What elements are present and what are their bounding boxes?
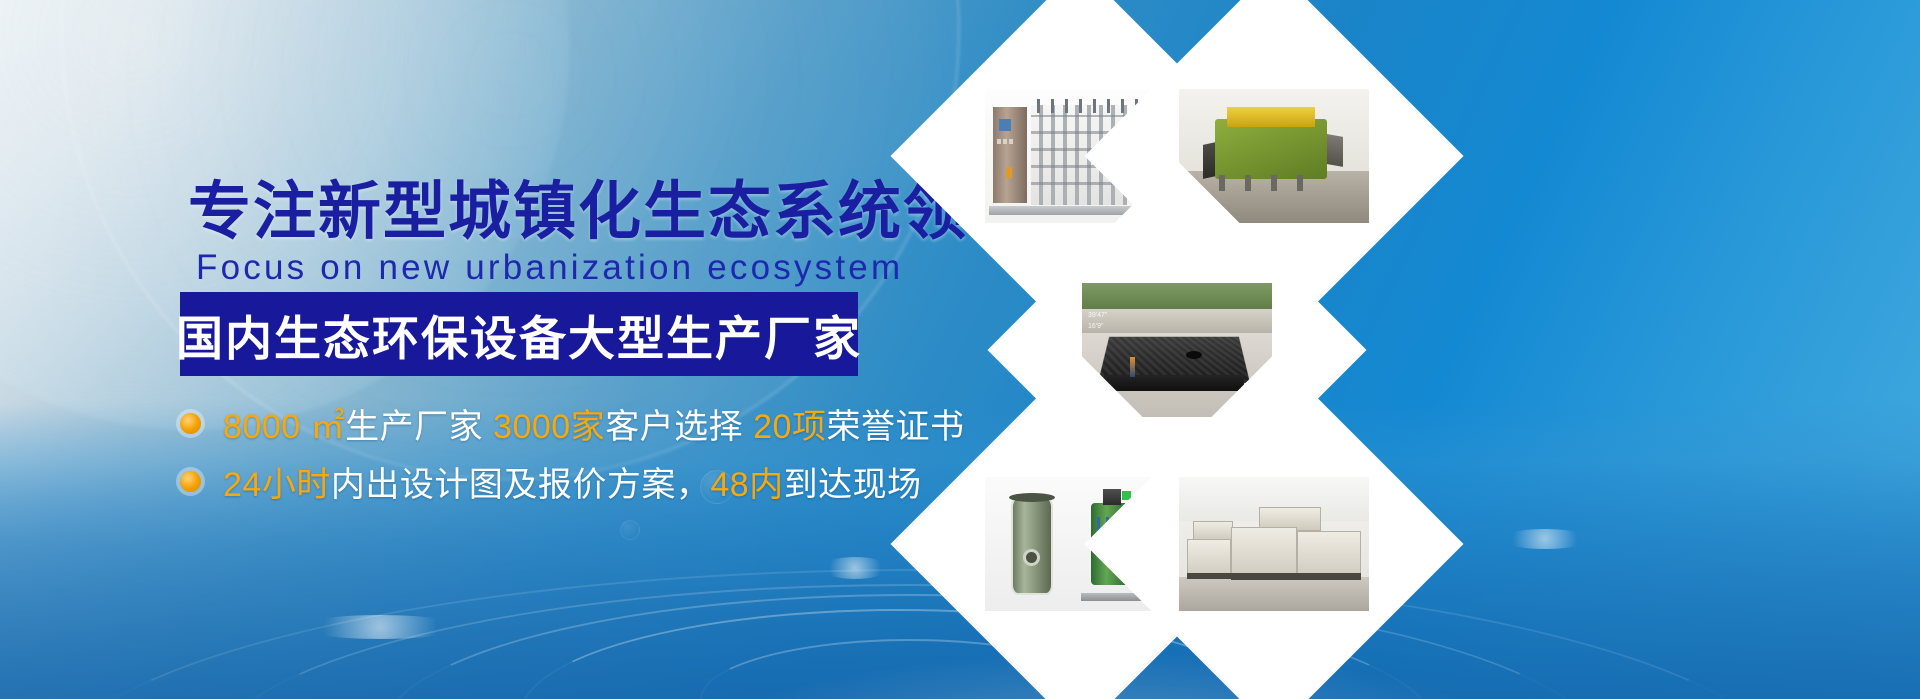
- photo-concrete-panel-stack: [1179, 477, 1369, 611]
- banner-subheadline: Focus on new urbanization ecosystem: [196, 248, 903, 288]
- list-item: 24小时内出设计图及报价方案，48内到达现场: [180, 458, 964, 504]
- bullet-text: 8000 ㎡生产厂家 3000家客户选择 20项荣誉证书: [223, 399, 964, 448]
- bullet-plain-text: 内出设计图及报价方案，: [331, 466, 711, 504]
- banner-text-column: 专注新型城镇化生态系统领域 Focus on new urbanization …: [0, 0, 960, 699]
- banner-bullet-list: 8000 ㎡生产厂家 3000家客户选择 20项荣誉证书 24小时内出设计图及报…: [180, 400, 964, 516]
- bullet-highlight-text: 48内: [710, 466, 783, 504]
- banner-highlight-box-label: 国内生态环保设备大型生产厂家: [176, 300, 862, 369]
- bullet-highlight-text: 8000 ㎡: [223, 408, 345, 446]
- bullet-plain-text: 客户选择: [605, 408, 753, 446]
- bullet-plain-text: 生产厂家: [345, 408, 493, 446]
- bullet-dot-icon: [180, 413, 201, 434]
- bullet-highlight-text: 3000家: [493, 408, 605, 446]
- list-item: 8000 ㎡生产厂家 3000家客户选择 20项荣誉证书: [180, 400, 964, 446]
- bullet-highlight-text: 20项: [753, 408, 826, 446]
- bullet-text: 24小时内出设计图及报价方案，48内到达现场: [223, 457, 922, 506]
- diamond-photo-grid: 39'47"16'9": [900, 0, 1920, 699]
- hero-banner: 专注新型城镇化生态系统领域 Focus on new urbanization …: [0, 0, 1920, 699]
- bullet-dot-icon: [180, 471, 201, 492]
- bullet-highlight-text: 24小时: [223, 466, 331, 504]
- banner-highlight-box: 国内生态环保设备大型生产厂家: [180, 292, 858, 376]
